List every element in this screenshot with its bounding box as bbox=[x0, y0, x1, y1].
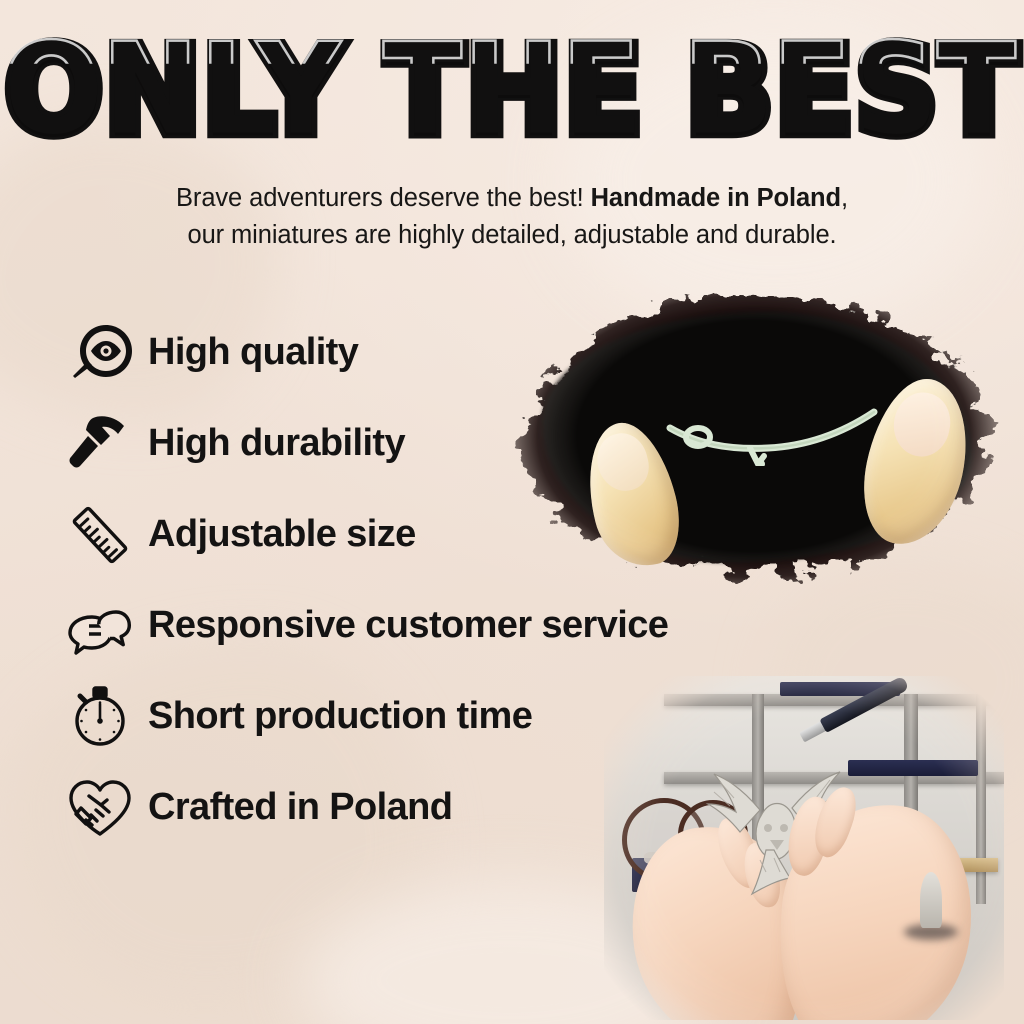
thumbnail-right bbox=[888, 387, 956, 461]
hammer-icon bbox=[62, 408, 138, 480]
feature-label-adjustable-size: Adjustable size bbox=[148, 513, 416, 556]
feature-row-high-quality: High quality bbox=[62, 307, 762, 398]
shelf-post-far bbox=[976, 694, 986, 904]
promo-infographic: ONLY THE BEST ONLY THE BEST Brave advent… bbox=[0, 0, 1024, 1024]
tray-top-b bbox=[848, 760, 978, 776]
subtitle-lead: Brave adventurers deserve the best! bbox=[176, 184, 591, 212]
feature-label-customer-service: Responsive customer service bbox=[148, 604, 668, 647]
speech-bubbles-icon bbox=[62, 590, 138, 662]
feature-label-crafted-in-poland: Crafted in Poland bbox=[148, 786, 452, 829]
feature-list: High quality High durability bbox=[62, 307, 762, 853]
feature-row-crafted-in-poland: Crafted in Poland bbox=[62, 762, 762, 853]
heart-handshake-icon bbox=[62, 772, 138, 844]
stopwatch-icon bbox=[62, 681, 138, 753]
ruler-icon bbox=[62, 499, 138, 571]
feature-row-adjustable-size: Adjustable size bbox=[62, 489, 762, 580]
subtitle-line2: our miniatures are highly detailed, adju… bbox=[187, 221, 836, 249]
feature-label-high-quality: High quality bbox=[148, 331, 358, 374]
feature-row-customer-service: Responsive customer service bbox=[62, 580, 762, 671]
subtitle-highlight: Handmade in Poland bbox=[591, 184, 841, 212]
subtitle-tail: , bbox=[841, 184, 848, 212]
subtitle: Brave adventurers deserve the best! Hand… bbox=[0, 180, 1024, 254]
magnifier-eye-icon bbox=[62, 317, 138, 389]
page-title: ONLY THE BEST bbox=[0, 32, 1024, 153]
feature-row-high-durability: High durability bbox=[62, 398, 762, 489]
feature-row-production-time: Short production time bbox=[62, 671, 762, 762]
feature-label-production-time: Short production time bbox=[148, 695, 532, 738]
loose-miniature bbox=[920, 872, 942, 928]
feature-label-high-durability: High durability bbox=[148, 422, 405, 465]
